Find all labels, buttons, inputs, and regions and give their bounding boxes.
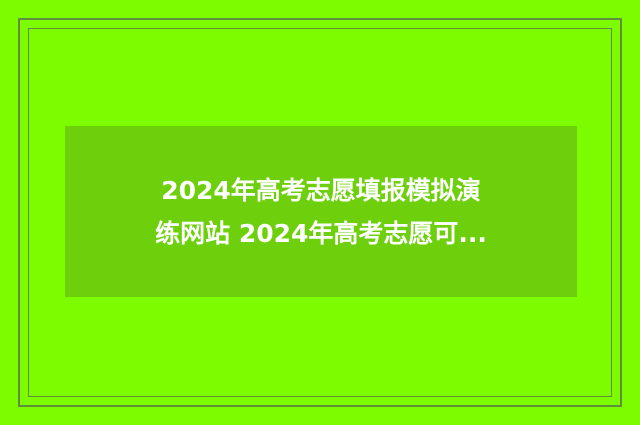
content-panel: 2024年高考志愿填报模拟演练网站 2024年高考志愿可... <box>65 126 577 297</box>
headline-text: 2024年高考志愿填报模拟演练网站 2024年高考志愿可... <box>151 169 491 255</box>
page-canvas: 2024年高考志愿填报模拟演练网站 2024年高考志愿可... <box>0 0 640 425</box>
